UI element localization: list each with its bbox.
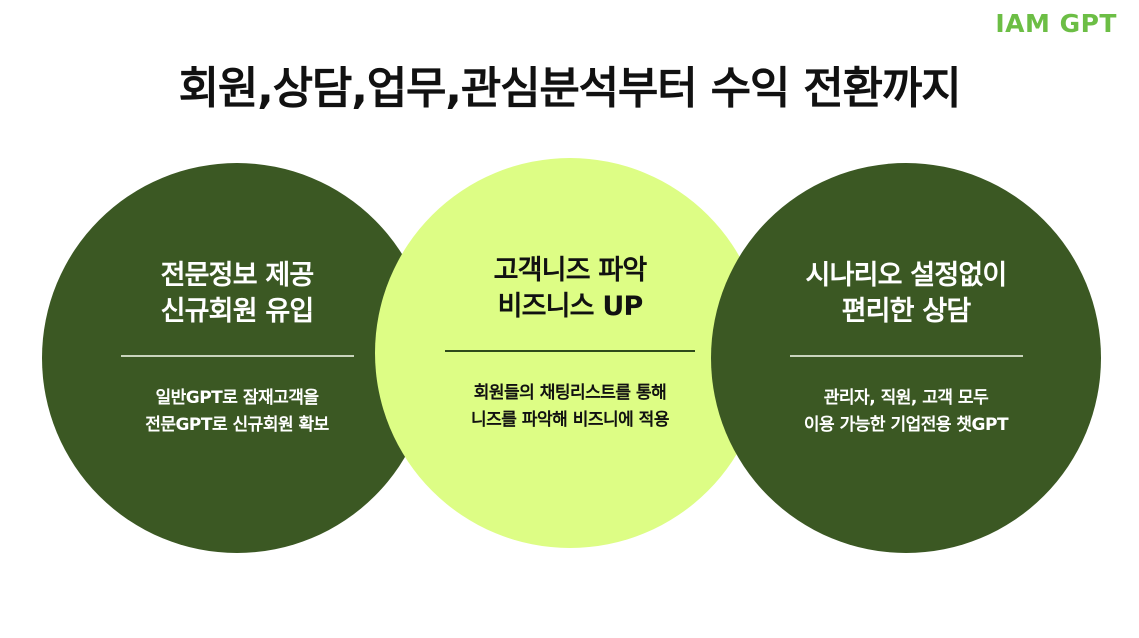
circle-center-content: 고객니즈 파악 비즈니스 UP 회원들의 채팅리스트를 통해 니즈를 파악해 비…: [415, 253, 725, 433]
venn-diagram: 전문정보 제공 신규회원 유입 일반GPT로 잠재고객을 전문GPT로 신규회원…: [0, 0, 1139, 638]
circle-left-divider: [121, 355, 354, 357]
circle-left: 전문정보 제공 신규회원 유입 일반GPT로 잠재고객을 전문GPT로 신규회원…: [42, 163, 432, 553]
circle-center-body: 회원들의 채팅리스트를 통해 니즈를 파악해 비즈니에 적용: [415, 380, 725, 433]
circle-right-content: 시나리오 설정없이 편리한 상담 관리자, 직원, 고객 모두 이용 가능한 기…: [756, 258, 1056, 438]
circle-left-body: 일반GPT로 잠재고객을 전문GPT로 신규회원 확보: [87, 385, 387, 438]
circle-right-body: 관리자, 직원, 고객 모두 이용 가능한 기업전용 챗GPT: [756, 385, 1056, 438]
circle-right-divider: [790, 355, 1023, 357]
circle-left-content: 전문정보 제공 신규회원 유입 일반GPT로 잠재고객을 전문GPT로 신규회원…: [87, 258, 387, 438]
circle-right-title: 시나리오 설정없이 편리한 상담: [756, 258, 1056, 329]
circle-right: 시나리오 설정없이 편리한 상담 관리자, 직원, 고객 모두 이용 가능한 기…: [711, 163, 1101, 553]
circle-center-title: 고객니즈 파악 비즈니스 UP: [415, 253, 725, 324]
circle-center-divider: [445, 350, 695, 352]
circle-left-title: 전문정보 제공 신규회원 유입: [87, 258, 387, 329]
circle-center: 고객니즈 파악 비즈니스 UP 회원들의 채팅리스트를 통해 니즈를 파악해 비…: [375, 158, 765, 548]
